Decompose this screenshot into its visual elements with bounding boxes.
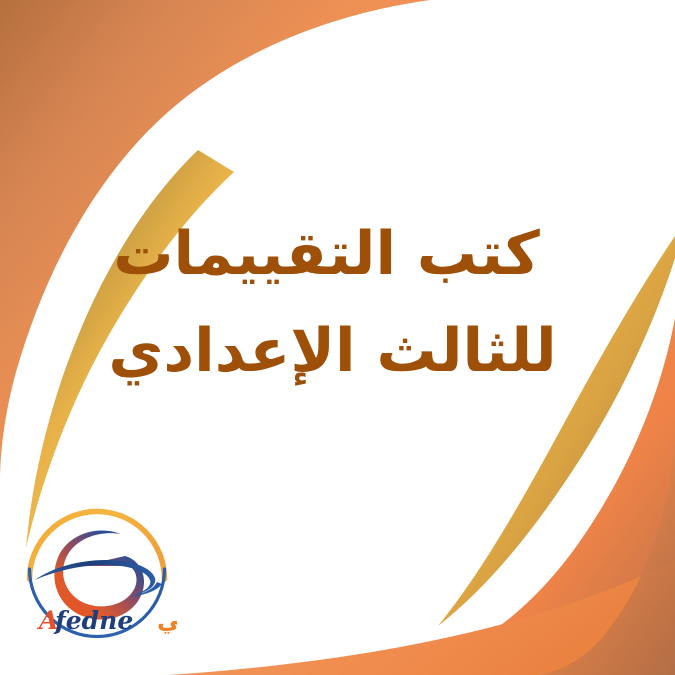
page-title-line-1: كتب التقييمات bbox=[0, 206, 675, 303]
page-title-line-2: للثالث الإعدادي bbox=[0, 303, 675, 400]
logo-latin-text: fedne bbox=[53, 606, 133, 635]
book-cover: كتب التقييمات للثالث الإعدادي bbox=[0, 0, 675, 675]
cover-title: كتب التقييمات للثالث الإعدادي bbox=[0, 206, 675, 400]
logo-arabic-text: أفدني bbox=[157, 604, 177, 634]
brand-logo[interactable]: A fedne أفدني bbox=[17, 496, 177, 661]
